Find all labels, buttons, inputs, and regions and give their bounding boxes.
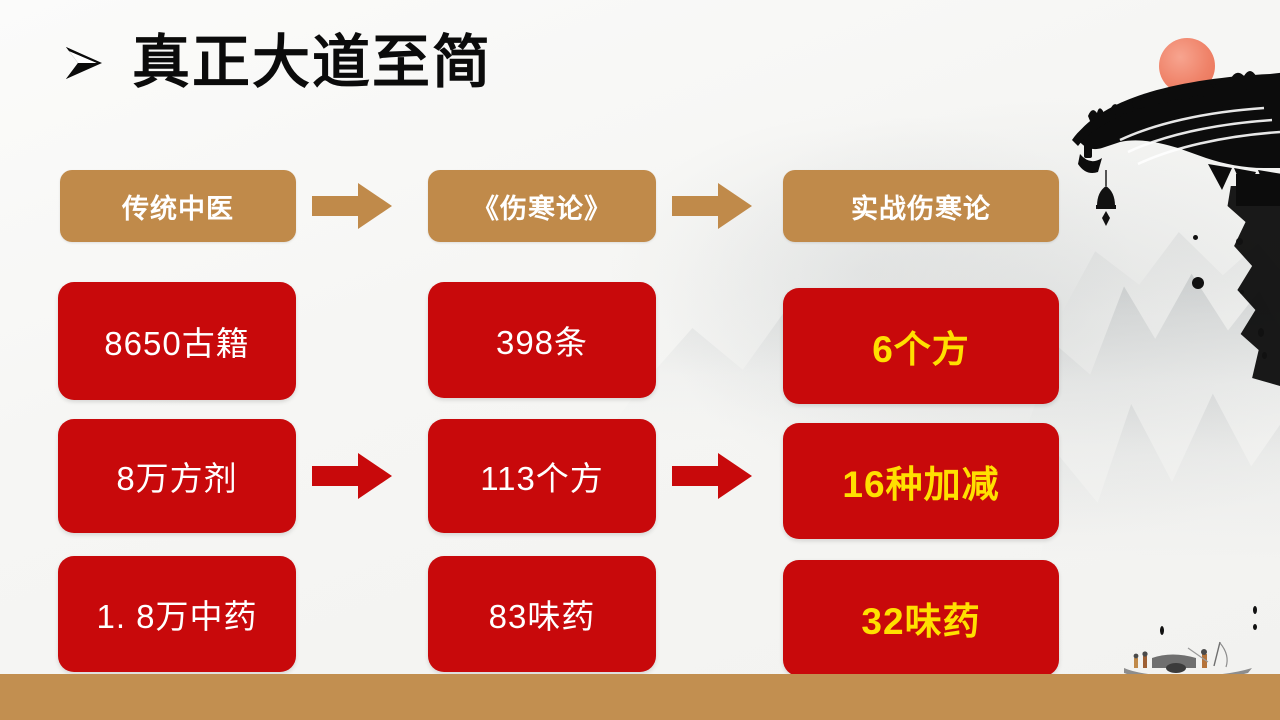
header-box-label: 传统中医	[122, 187, 234, 226]
header-box-column-3[interactable]: 实战伤寒论	[783, 170, 1059, 242]
ink-mountains-icon	[1060, 196, 1280, 316]
header-box-label: 实战伤寒论	[851, 187, 991, 226]
ink-mountains-icon	[1040, 300, 1280, 560]
header-box-column-2[interactable]: 《伤寒论》	[428, 170, 656, 242]
value-box-c3r2[interactable]: 16种加减	[783, 423, 1059, 539]
value-box-label: 398条	[496, 316, 588, 364]
value-box-label: 16种加减	[842, 454, 999, 508]
ink-splatter-icon	[1193, 235, 1198, 240]
value-box-c1r3[interactable]: 1. 8万中药	[58, 556, 296, 672]
ink-splatter-icon	[1253, 624, 1257, 630]
arrow-right-icon-header-2	[672, 182, 752, 230]
value-box-label: 1. 8万中药	[96, 590, 257, 638]
ink-splatter-icon	[1160, 626, 1164, 635]
value-box-c3r3[interactable]: 32味药	[783, 560, 1059, 676]
value-box-c3r1[interactable]: 6个方	[783, 288, 1059, 404]
ink-mountains-icon	[1020, 236, 1280, 446]
ink-splatter-icon	[1258, 328, 1264, 337]
value-box-c1r1[interactable]: 8650古籍	[58, 282, 296, 400]
value-box-label: 6个方	[872, 319, 970, 373]
slide-canvas: 真正大道至简 传统中医 《伤寒论》 实战伤寒论 8650古籍 8万方剂 1. 8…	[0, 0, 1280, 720]
ink-splatter-icon	[1262, 352, 1267, 359]
hanging-bell-icon	[1093, 170, 1119, 228]
value-box-label: 83味药	[489, 590, 596, 638]
value-box-c2r2[interactable]: 113个方	[428, 419, 656, 533]
arrow-right-icon-middle-1	[312, 452, 392, 500]
sun-icon	[1159, 38, 1215, 94]
value-box-c2r1[interactable]: 398条	[428, 282, 656, 398]
ink-splatter-icon	[1253, 606, 1257, 614]
value-box-label: 8万方剂	[116, 452, 237, 500]
arrow-bullet-icon	[52, 37, 104, 89]
page-title: 真正大道至简	[52, 34, 492, 92]
ink-splatter-icon	[1236, 238, 1243, 245]
header-box-column-1[interactable]: 传统中医	[60, 170, 296, 242]
arrow-right-icon-middle-2	[672, 452, 752, 500]
footer-bar	[0, 674, 1280, 720]
value-box-c2r3[interactable]: 83味药	[428, 556, 656, 672]
value-box-label: 32味药	[861, 591, 980, 645]
ink-splatter-icon	[1192, 277, 1204, 289]
ink-splatter-icon	[1198, 186, 1280, 386]
ink-splatter-icon	[1240, 290, 1244, 294]
temple-roof-icon	[1058, 18, 1280, 218]
page-title-text: 真正大道至简	[132, 34, 492, 92]
value-box-label: 113个方	[480, 452, 604, 500]
arrow-right-icon-header-1	[312, 182, 392, 230]
header-box-label: 《伤寒论》	[472, 187, 612, 226]
value-box-c1r2[interactable]: 8万方剂	[58, 419, 296, 533]
value-box-label: 8650古籍	[104, 317, 249, 365]
